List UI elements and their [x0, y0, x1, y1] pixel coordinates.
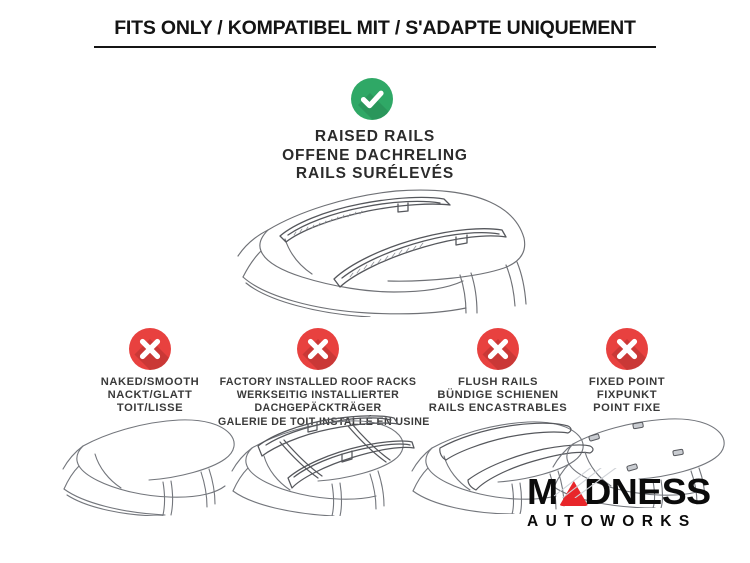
logo-wordmark: MADNESS	[527, 474, 743, 510]
brand-logo: MADNESS AUTOWORKS	[527, 474, 735, 530]
car-roof-naked-smooth-illustration	[55, 408, 245, 516]
logo-brand-post: DNESS	[584, 471, 710, 512]
car-roof-factory-racks-illustration	[222, 404, 420, 516]
logo-triangle-icon	[559, 481, 588, 506]
x-circle-icon	[129, 328, 171, 370]
x-circle-icon	[477, 328, 519, 370]
title-divider	[94, 46, 656, 48]
x-circle-icon	[297, 328, 339, 370]
compatible-label-en: RAISED RAILS	[0, 128, 750, 147]
compatible-label-de: OFFENE DACHRELING	[0, 147, 750, 166]
car-roof-raised-rails-illustration	[228, 182, 538, 317]
fitment-compatibility-graphic: FITS ONLY / KOMPATIBEL MIT / S'ADAPTE UN…	[0, 0, 750, 563]
x-circle-icon	[606, 328, 648, 370]
logo-tagline: AUTOWORKS	[527, 513, 735, 530]
label-en: FIXED POINT	[552, 376, 702, 389]
label-de-1: WERKSEITIG INSTALLIERTER	[218, 389, 418, 402]
incompatible-item-fixed-point: FIXED POINT FIXPUNKT POINT FIXE	[552, 328, 702, 416]
compatible-labels: RAISED RAILS OFFENE DACHRELING RAILS SUR…	[0, 128, 750, 184]
page-title: FITS ONLY / KOMPATIBEL MIT / S'ADAPTE UN…	[0, 17, 750, 40]
compatible-label-fr: RAILS SURÉLEVÉS	[0, 165, 750, 184]
label-en: FACTORY INSTALLED ROOF RACKS	[218, 376, 418, 389]
check-circle-icon	[351, 78, 393, 120]
logo-brand-pre: M	[527, 471, 558, 512]
label-de: FIXPUNKT	[552, 389, 702, 402]
